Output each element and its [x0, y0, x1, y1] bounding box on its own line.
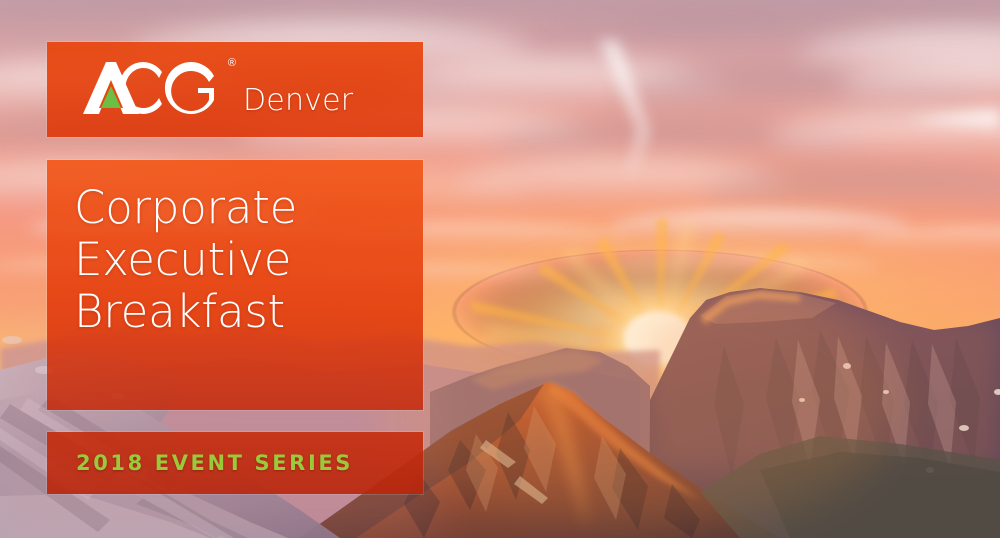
event-title-panel: Corporate Executive Breakfast — [47, 160, 423, 410]
title-line-2: Executive — [74, 234, 297, 286]
event-series-panel: 2018 EVENT SERIES — [47, 432, 423, 494]
event-banner: ® Denver Corporate Executive Breakfast 2… — [0, 0, 1000, 538]
acg-wordmark: ® — [75, 56, 225, 118]
acg-logo: ® Denver — [75, 56, 353, 118]
title-line-1: Corporate — [74, 182, 297, 234]
event-series-label: 2018 EVENT SERIES — [76, 432, 353, 494]
event-title: Corporate Executive Breakfast — [74, 182, 297, 338]
chapter-name: Denver — [243, 86, 353, 116]
acg-logo-panel: ® Denver — [47, 42, 423, 137]
title-line-3: Breakfast — [74, 286, 297, 338]
registered-trademark-icon: ® — [228, 58, 236, 69]
